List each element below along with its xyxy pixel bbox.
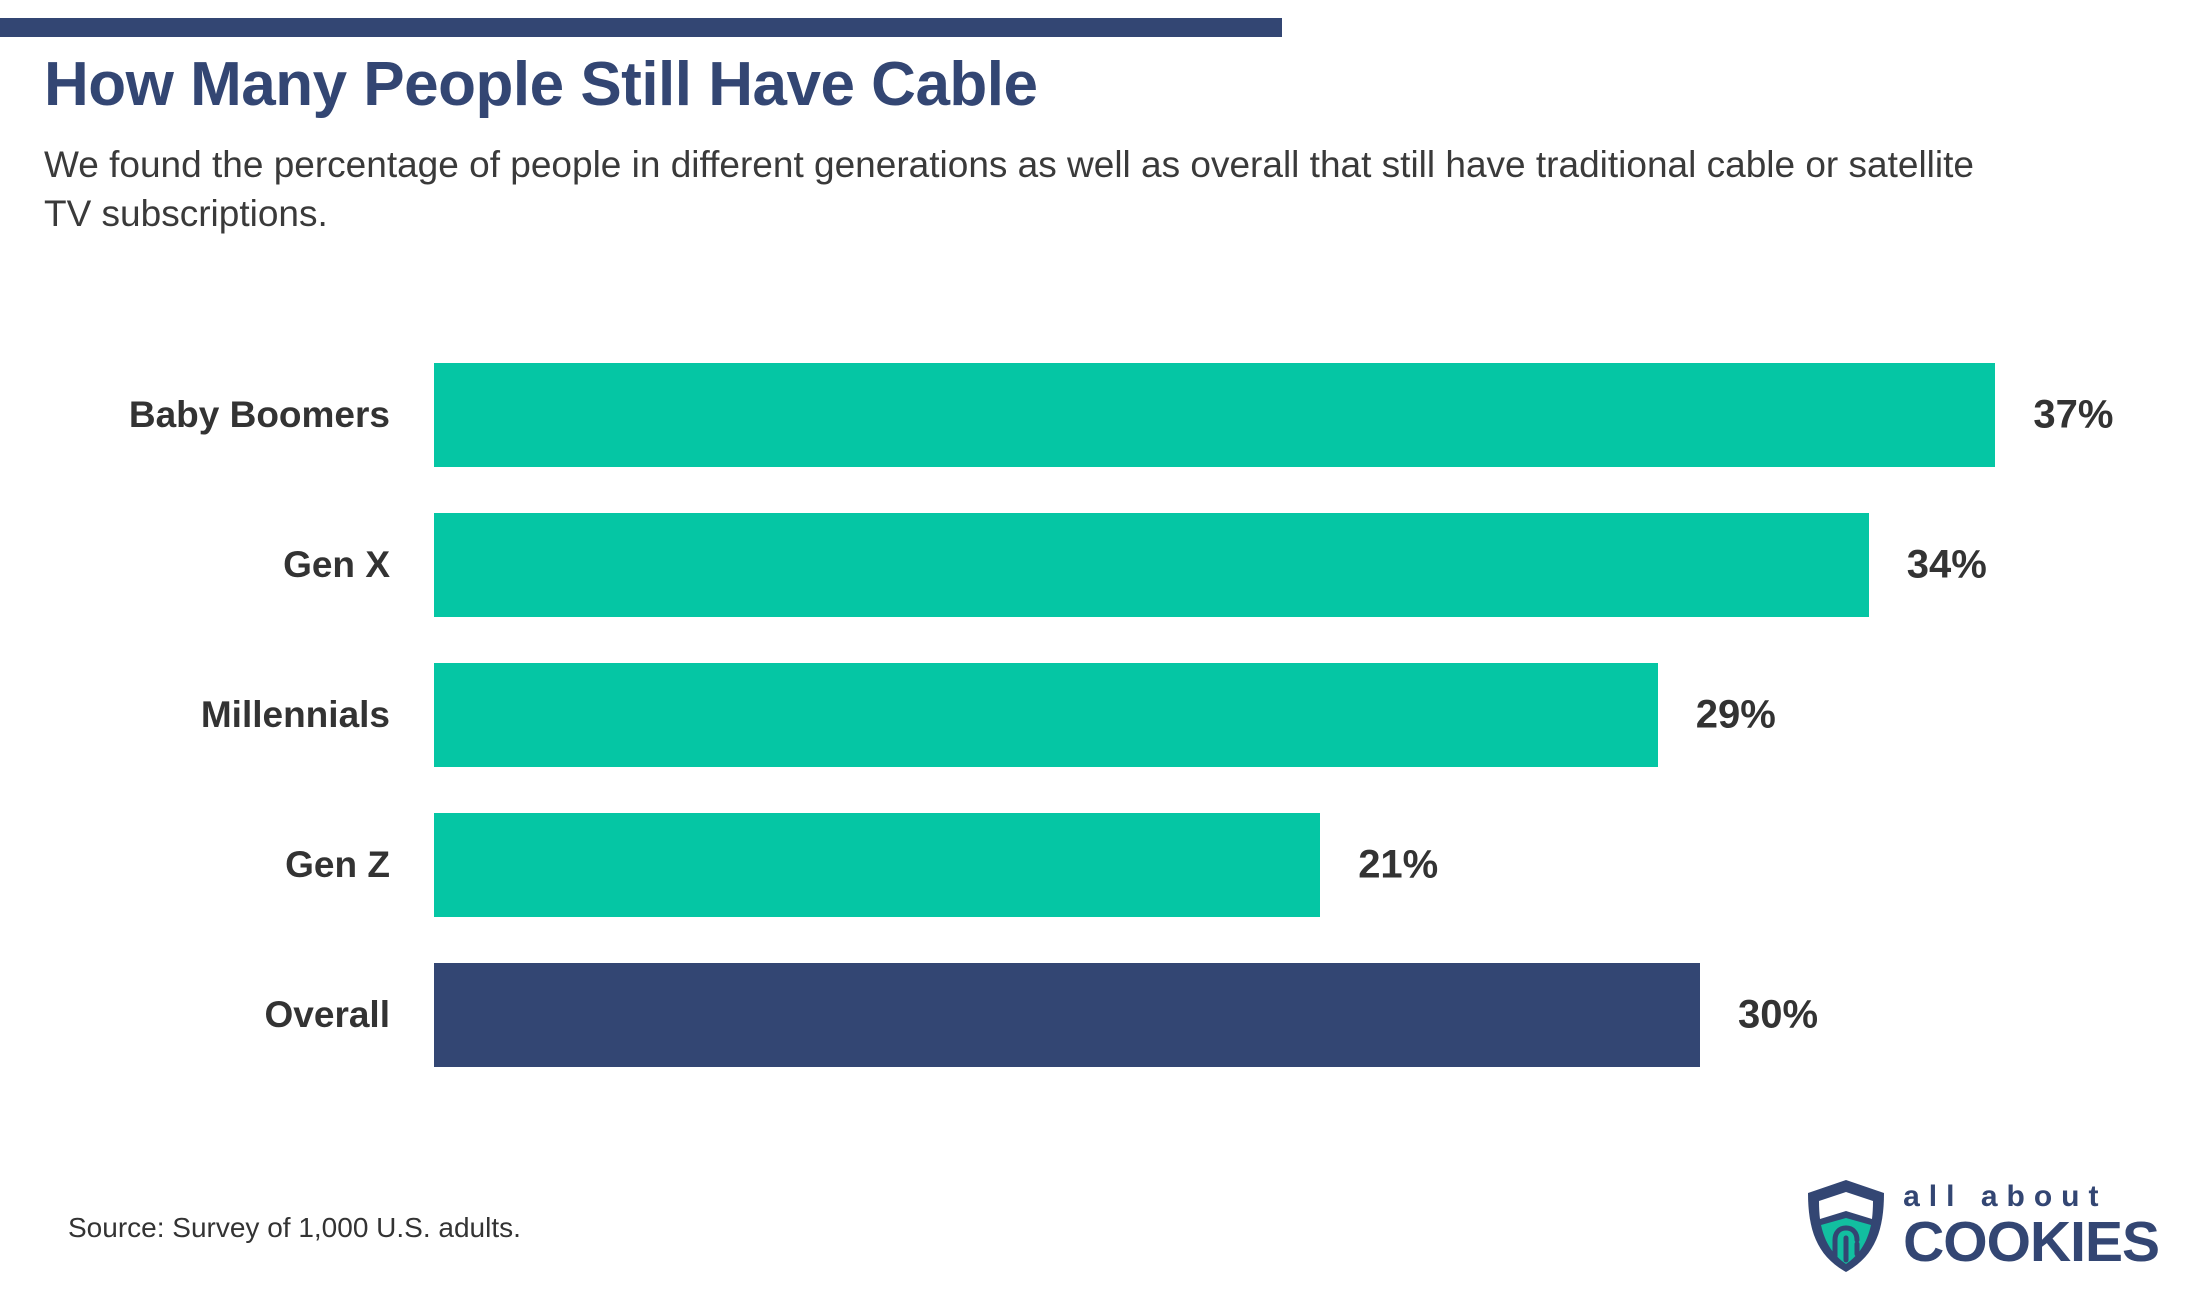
bar-track: 29%	[434, 663, 2187, 767]
logo-wordmark: all about COOKIES	[1903, 1182, 2159, 1271]
page-title: How Many People Still Have Cable	[44, 52, 2004, 119]
bar-category-label: Millennials	[0, 694, 390, 736]
header: How Many People Still Have Cable We foun…	[44, 52, 2004, 239]
chart-row: Millennials29%	[0, 640, 2187, 790]
bar-value-label: 29%	[1658, 693, 1776, 738]
bar-value-label: 21%	[1320, 843, 1438, 888]
bar-track: 30%	[434, 963, 2187, 1067]
source-note: Source: Survey of 1,000 U.S. adults.	[68, 1212, 521, 1244]
logo-line-cookies: COOKIES	[1903, 1214, 2159, 1271]
bar-category-label: Baby Boomers	[0, 394, 390, 436]
chart-row: Overall30%	[0, 940, 2187, 1090]
bar-chart: Baby Boomers37%Gen X34%Millennials29%Gen…	[0, 340, 2187, 1140]
bar-track: 21%	[434, 813, 2187, 917]
shield-fingerprint-icon	[1805, 1178, 1887, 1274]
bar	[434, 513, 1869, 617]
page-subtitle: We found the percentage of people in dif…	[44, 141, 1974, 239]
bar-category-label: Gen X	[0, 544, 390, 586]
bar	[434, 363, 1995, 467]
chart-row: Baby Boomers37%	[0, 340, 2187, 490]
bar-track: 34%	[434, 513, 2187, 617]
bar-value-label: 30%	[1700, 993, 1818, 1038]
chart-row: Gen Z21%	[0, 790, 2187, 940]
bar	[434, 963, 1700, 1067]
bar-category-label: Gen Z	[0, 844, 390, 886]
logo-line-all-about: all about	[1903, 1182, 2107, 1212]
bar-track: 37%	[434, 363, 2187, 467]
chart-row: Gen X34%	[0, 490, 2187, 640]
bar-category-label: Overall	[0, 994, 390, 1036]
infographic-canvas: How Many People Still Have Cable We foun…	[0, 0, 2187, 1312]
brand-logo: all about COOKIES	[1805, 1178, 2159, 1274]
bar-value-label: 37%	[1995, 393, 2113, 438]
bar-value-label: 34%	[1869, 543, 1987, 588]
bar	[434, 663, 1658, 767]
top-accent-rule	[0, 18, 1282, 37]
bar	[434, 813, 1320, 917]
